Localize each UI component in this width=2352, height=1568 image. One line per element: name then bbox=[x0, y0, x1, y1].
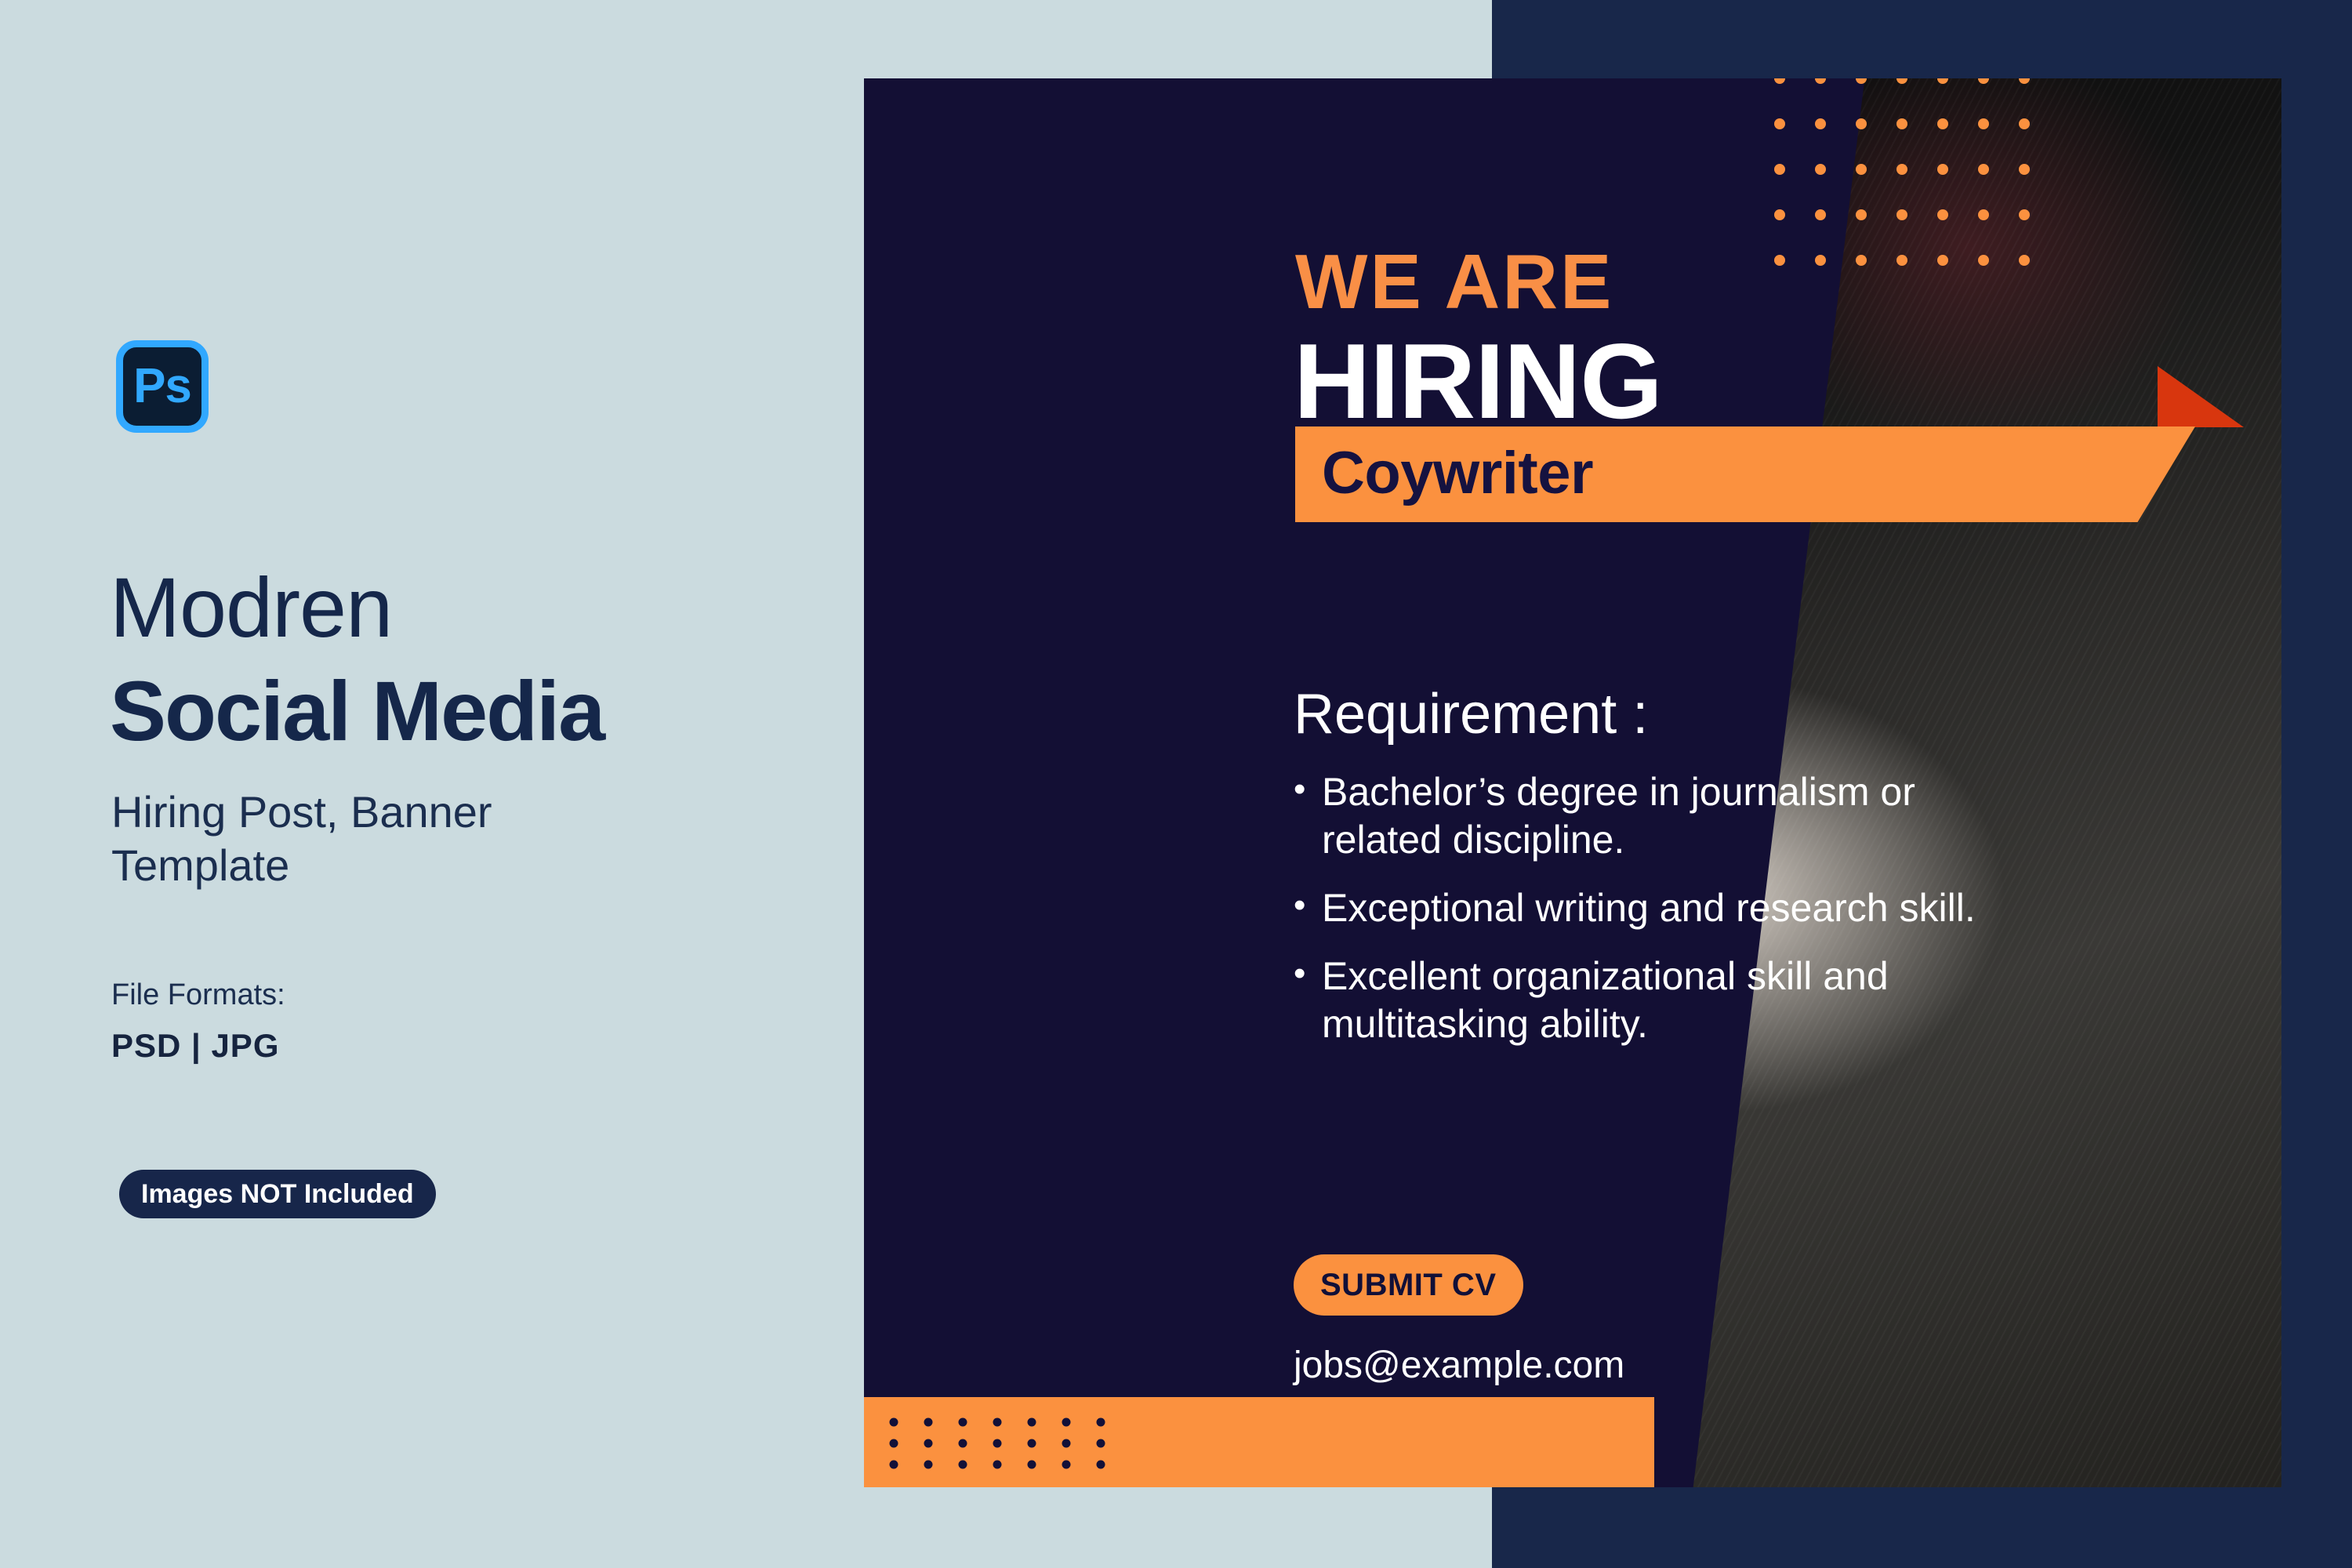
requirement-text: Exceptional writing and research skill. bbox=[1322, 884, 2023, 932]
images-not-included-badge: Images NOT Included bbox=[119, 1170, 436, 1218]
requirements-title: Requirement : bbox=[1294, 682, 1648, 746]
requirement-text: Bachelor’s degree in journalism or relat… bbox=[1322, 768, 2023, 864]
list-item: • Excellent organizational skill and mul… bbox=[1294, 953, 2023, 1048]
file-formats-label: File Formats: bbox=[111, 978, 285, 1012]
poster-headline: HIRING bbox=[1294, 328, 1662, 434]
requirements-list: • Bachelor’s degree in journalism or rel… bbox=[1294, 768, 2023, 1069]
product-title-line2: Social Media bbox=[110, 666, 604, 755]
photoshop-icon-label: Ps bbox=[133, 362, 191, 411]
product-subtitle: Hiring Post, Banner Template bbox=[111, 786, 613, 893]
bullet-icon: • bbox=[1294, 884, 1322, 927]
contact-email: jobs@example.com bbox=[1294, 1344, 1624, 1387]
bullet-icon: • bbox=[1294, 953, 1322, 995]
list-item: • Exceptional writing and research skill… bbox=[1294, 884, 2023, 932]
dot-grid-bottom-icon bbox=[887, 1416, 1138, 1471]
photoshop-icon: Ps bbox=[116, 340, 209, 433]
requirement-text: Excellent organizational skill and multi… bbox=[1322, 953, 2023, 1048]
file-formats-value: PSD | JPG bbox=[111, 1027, 280, 1065]
product-title-line1: Modren bbox=[110, 563, 392, 652]
bottom-accent-bar bbox=[864, 1397, 1654, 1487]
job-title-text: Coywriter bbox=[1322, 439, 1593, 507]
job-title-banner: Coywriter bbox=[1295, 426, 2195, 522]
bullet-icon: • bbox=[1294, 768, 1322, 811]
list-item: • Bachelor’s degree in journalism or rel… bbox=[1294, 768, 2023, 864]
dot-grid-top-icon bbox=[1772, 78, 2070, 282]
submit-cv-button[interactable]: SUBMIT CV bbox=[1294, 1254, 1523, 1316]
hiring-poster-card: WE ARE HIRING Coywriter Requirement : • … bbox=[864, 78, 2281, 1487]
left-info-column: Ps Modren Social Media Hiring Post, Bann… bbox=[0, 0, 862, 1568]
poster-eyebrow: WE ARE bbox=[1295, 243, 1613, 320]
poster-preview-stage: Ps Modren Social Media Hiring Post, Bann… bbox=[0, 0, 2352, 1568]
